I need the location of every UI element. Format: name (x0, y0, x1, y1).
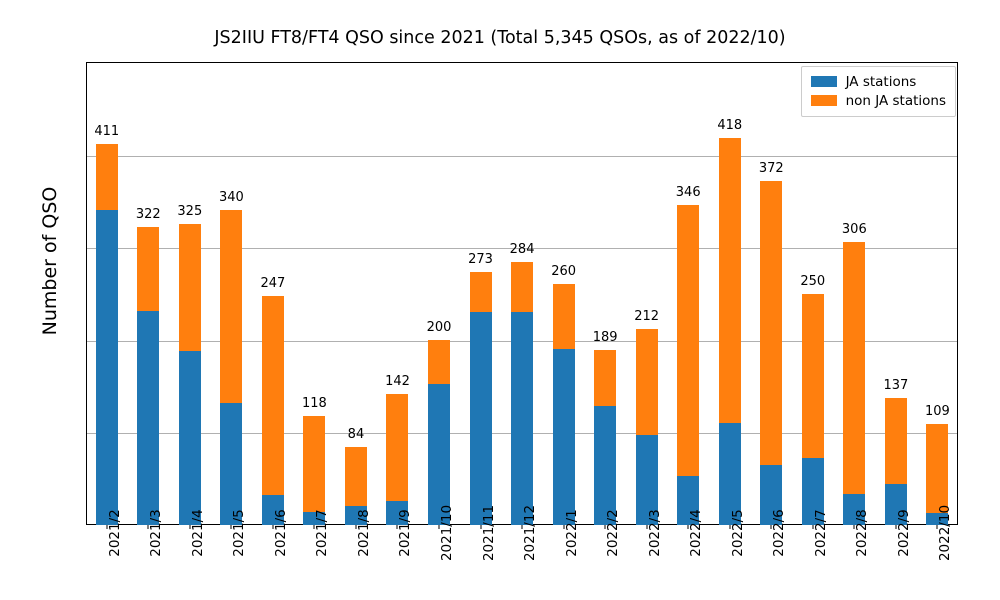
bar-value-label: 306 (842, 222, 867, 237)
x-axis-tick-label: 2022/6 (771, 509, 787, 557)
x-axis-tick-label: 2022/10 (937, 505, 953, 561)
bar-value-label: 322 (136, 207, 161, 222)
bar-segment-non-ja[interactable] (511, 262, 533, 312)
stacked-bar[interactable] (636, 329, 658, 525)
stacked-bar[interactable] (386, 394, 408, 525)
chart-canvas: JS2IIU FT8/FT4 QSO since 2021 (Total 5,3… (0, 0, 1000, 600)
x-axis-tick-label: 2021/3 (148, 509, 164, 557)
bar-segment-non-ja[interactable] (677, 205, 699, 476)
bar-group[interactable]: 250 (792, 62, 834, 525)
x-axis-tick: 2021/4 (169, 525, 211, 600)
bar-group[interactable]: 260 (543, 62, 585, 525)
bar-segment-non-ja[interactable] (428, 340, 450, 384)
bar-group[interactable]: 340 (211, 62, 253, 525)
x-axis-tick: 2021/9 (377, 525, 419, 600)
x-axis-tick: 2022/9 (875, 525, 917, 600)
x-axis-tick-label: 2021/12 (522, 505, 538, 561)
bar-series-container: 4113223253402471188414220027328426018921… (86, 62, 958, 525)
x-axis-tick: 2021/3 (128, 525, 170, 600)
bar-group[interactable]: 273 (460, 62, 502, 525)
bar-segment-ja[interactable] (220, 403, 242, 525)
bar-group[interactable]: 372 (751, 62, 793, 525)
x-axis-tick-label: 2021/8 (356, 509, 372, 557)
x-axis-tick-label: 2021/4 (190, 509, 206, 557)
stacked-bar[interactable] (220, 210, 242, 525)
bar-value-label: 273 (468, 252, 493, 267)
bar-group[interactable]: 247 (252, 62, 294, 525)
bar-value-label: 250 (800, 274, 825, 289)
x-axis-tick: 2022/3 (626, 525, 668, 600)
bar-value-label: 109 (925, 404, 950, 419)
bar-value-label: 284 (510, 242, 535, 257)
bar-value-label: 189 (593, 330, 618, 345)
bar-segment-non-ja[interactable] (345, 447, 367, 506)
page-title: JS2IIU FT8/FT4 QSO since 2021 (Total 5,3… (0, 28, 1000, 48)
bar-group[interactable]: 306 (834, 62, 876, 525)
bar-segment-non-ja[interactable] (262, 296, 284, 495)
stacked-bar[interactable] (96, 144, 118, 525)
bar-segment-non-ja[interactable] (885, 398, 907, 484)
bar-value-label: 118 (302, 396, 327, 411)
stacked-bar[interactable] (594, 350, 616, 525)
x-axis-tick-label: 2022/3 (647, 509, 663, 557)
x-axis-tick: 2022/6 (751, 525, 793, 600)
bar-value-label: 200 (427, 320, 452, 335)
x-axis-tick-label: 2022/7 (813, 509, 829, 557)
x-axis-tick: 2021/8 (335, 525, 377, 600)
x-axis-tick-label: 2021/9 (397, 509, 413, 557)
x-axis-tick-label: 2022/8 (854, 509, 870, 557)
stacked-bar[interactable] (137, 227, 159, 525)
bar-segment-non-ja[interactable] (220, 210, 242, 403)
bar-group[interactable]: 109 (917, 62, 959, 525)
bar-segment-non-ja[interactable] (760, 181, 782, 465)
stacked-bar[interactable] (428, 340, 450, 525)
bar-value-label: 142 (385, 374, 410, 389)
bar-segment-non-ja[interactable] (303, 416, 325, 512)
x-axis-tick-label: 2021/6 (273, 509, 289, 557)
x-axis-tick-label: 2021/5 (231, 509, 247, 557)
bar-segment-non-ja[interactable] (470, 272, 492, 312)
x-axis-tick: 2021/5 (211, 525, 253, 600)
chart-legend: JA stationsnon JA stations (801, 66, 956, 117)
stacked-bar[interactable] (511, 262, 533, 525)
x-axis-tick: 2022/7 (792, 525, 834, 600)
x-axis-tick: 2022/10 (917, 525, 959, 600)
bar-segment-non-ja[interactable] (594, 350, 616, 406)
bar-value-label: 84 (348, 427, 365, 442)
x-axis-tick-label: 2022/5 (730, 509, 746, 557)
bar-group[interactable]: 212 (626, 62, 668, 525)
stacked-bar[interactable] (843, 242, 865, 525)
bar-segment-non-ja[interactable] (636, 329, 658, 435)
bar-value-label: 418 (717, 118, 742, 133)
bar-value-label: 325 (177, 204, 202, 219)
legend-swatch-icon (811, 95, 837, 106)
bar-segment-non-ja[interactable] (719, 138, 741, 423)
bar-segment-non-ja[interactable] (553, 284, 575, 349)
legend-item[interactable]: non JA stations (811, 91, 946, 110)
bar-value-label: 372 (759, 161, 784, 176)
bar-group[interactable]: 325 (169, 62, 211, 525)
stacked-bar[interactable] (719, 138, 741, 525)
bar-segment-ja[interactable] (470, 312, 492, 525)
bar-group[interactable]: 200 (418, 62, 460, 525)
bar-segment-non-ja[interactable] (802, 294, 824, 459)
x-axis-tick: 2021/6 (252, 525, 294, 600)
x-axis-tick: 2021/2 (86, 525, 128, 600)
bar-value-label: 137 (883, 378, 908, 393)
bar-group[interactable]: 142 (377, 62, 419, 525)
x-axis-tick: 2022/5 (709, 525, 751, 600)
bar-value-label: 260 (551, 264, 576, 279)
bar-segment-non-ja[interactable] (926, 424, 948, 513)
bar-segment-non-ja[interactable] (843, 242, 865, 495)
stacked-bar[interactable] (553, 284, 575, 525)
legend-label: non JA stations (846, 93, 946, 109)
stacked-bar[interactable] (677, 205, 699, 525)
x-axis-tick: 2021/11 (460, 525, 502, 600)
stacked-bar[interactable] (179, 224, 201, 525)
bar-group[interactable]: 346 (667, 62, 709, 525)
x-axis-tick-label: 2022/2 (605, 509, 621, 557)
bar-value-label: 212 (634, 309, 659, 324)
x-axis-tick-label: 2021/11 (481, 505, 497, 561)
legend-label: JA stations (846, 74, 917, 90)
x-axis-tick: 2022/2 (584, 525, 626, 600)
x-axis-tick: 2022/1 (543, 525, 585, 600)
bar-group[interactable]: 411 (86, 62, 128, 525)
bar-group[interactable]: 322 (128, 62, 170, 525)
x-axis-tick-label: 2021/7 (314, 509, 330, 557)
x-axis-tick-label: 2021/2 (107, 509, 123, 557)
stacked-bar[interactable] (262, 296, 284, 525)
x-axis-tick: 2022/8 (834, 525, 876, 600)
legend-item[interactable]: JA stations (811, 72, 946, 91)
bar-segment-ja[interactable] (428, 384, 450, 525)
bar-group[interactable]: 189 (584, 62, 626, 525)
stacked-bar[interactable] (470, 272, 492, 525)
bar-segment-non-ja[interactable] (386, 394, 408, 501)
bar-group[interactable]: 418 (709, 62, 751, 525)
stacked-bar[interactable] (885, 398, 907, 525)
legend-swatch-icon (811, 76, 837, 87)
bar-group[interactable]: 137 (875, 62, 917, 525)
bar-group[interactable]: 118 (294, 62, 336, 525)
bar-value-label: 247 (260, 276, 285, 291)
x-axis-tick-label: 2022/1 (564, 509, 580, 557)
bar-value-label: 340 (219, 190, 244, 205)
bar-segment-ja[interactable] (179, 351, 201, 525)
x-axis-tick: 2021/7 (294, 525, 336, 600)
x-axis-tick-label: 2022/4 (688, 509, 704, 557)
bar-segment-ja[interactable] (594, 406, 616, 525)
bar-segment-ja[interactable] (96, 210, 118, 525)
bar-segment-ja[interactable] (511, 312, 533, 525)
bar-value-label: 346 (676, 185, 701, 200)
bar-segment-non-ja[interactable] (179, 224, 201, 351)
bar-segment-ja[interactable] (553, 349, 575, 525)
x-axis-ticks: 2021/22021/32021/42021/52021/62021/72021… (86, 525, 958, 600)
stacked-bar[interactable] (760, 181, 782, 525)
stacked-bar[interactable] (802, 294, 824, 526)
x-axis-tick: 2021/12 (501, 525, 543, 600)
bar-group[interactable]: 284 (501, 62, 543, 525)
bar-segment-non-ja[interactable] (137, 227, 159, 311)
x-axis-tick-label: 2021/10 (439, 505, 455, 561)
bar-segment-ja[interactable] (137, 311, 159, 525)
x-axis-tick-label: 2022/9 (896, 509, 912, 557)
y-axis-label: Number of QSO (39, 61, 61, 461)
x-axis-tick: 2022/4 (667, 525, 709, 600)
bar-segment-non-ja[interactable] (96, 144, 118, 210)
bar-value-label: 411 (94, 124, 119, 139)
bar-group[interactable]: 84 (335, 62, 377, 525)
x-axis-tick: 2021/10 (418, 525, 460, 600)
